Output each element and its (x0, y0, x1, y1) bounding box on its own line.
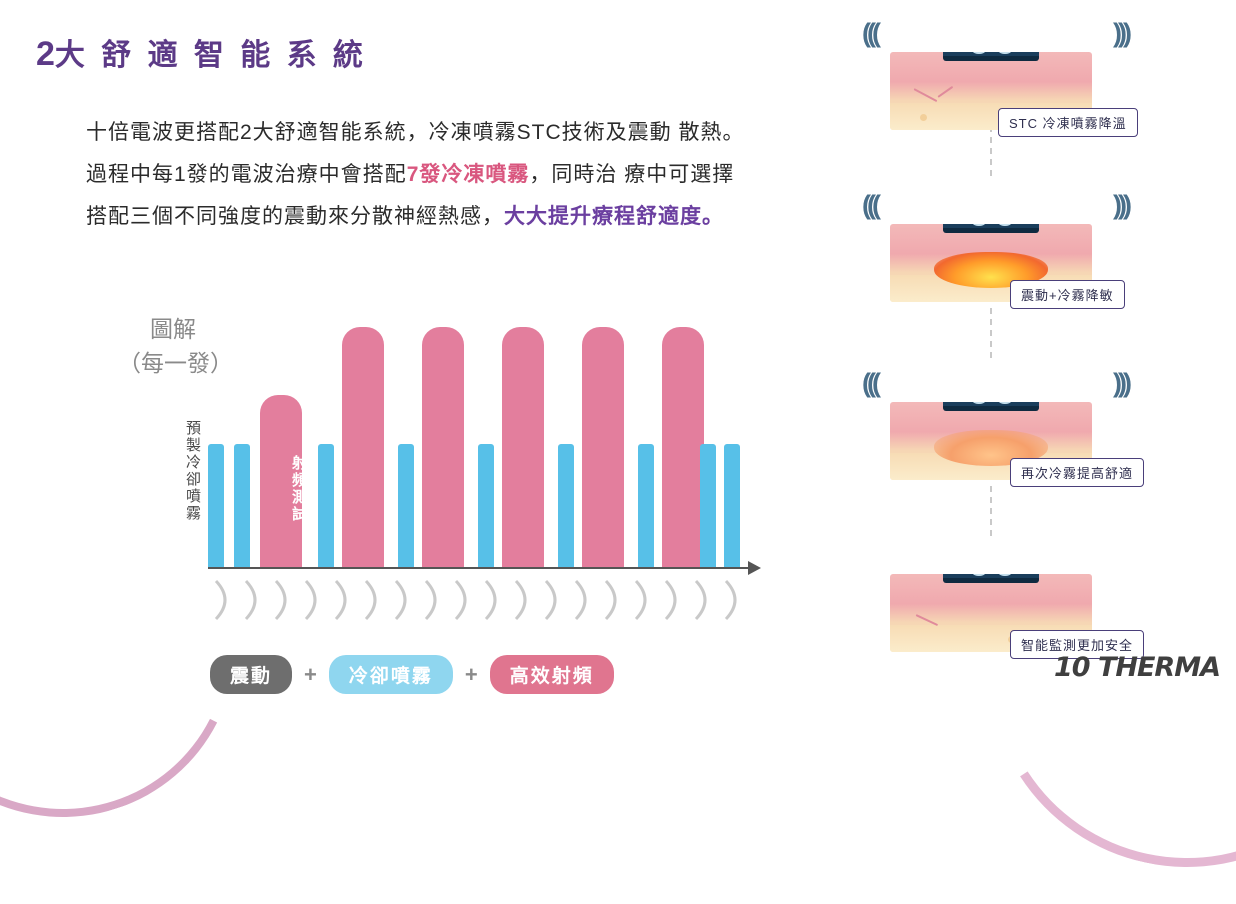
spray-nozzle-8 (995, 574, 1015, 576)
chart-bar-spray (318, 444, 334, 567)
handpiece-tip-4 (943, 574, 1039, 583)
wave-right-icon-3: ))) (1113, 368, 1128, 399)
paragraph-line-1: 十倍電波更搭配2大舒適智能系統，冷凍噴霧STC技術及震動 (86, 121, 672, 144)
description-paragraph: 十倍電波更搭配2大舒適智能系統，冷凍噴霧STC技術及震動 散熱。過程中每1發的電… (86, 112, 746, 238)
step-2: ((( ))) 震動+冷霧降敏 (890, 224, 1100, 302)
legend-item-cooling-spray: 冷卻噴霧 (329, 655, 453, 694)
vibration-wave-icon (208, 577, 754, 623)
step-connector-2 (990, 308, 994, 358)
page-title-number: 2 (36, 35, 55, 73)
chart-label-rf-test: 射頻測試 (288, 455, 309, 523)
wave-right-icon-2: ))) (1113, 190, 1128, 221)
spray-nozzle-3 (969, 224, 989, 226)
chart-bar-rf (422, 327, 464, 567)
chart-bar-rf (502, 327, 544, 567)
chart-bar-spray (558, 444, 574, 567)
treatment-cycle-chart: 圖解 （每一發） 預製冷卻噴霧 射頻測試 (96, 300, 756, 630)
handpiece-tip-2 (943, 224, 1039, 233)
wave-left-icon-3: ((( (862, 368, 877, 399)
page-title-text: 大 舒 適 智 能 系 統 (55, 39, 367, 72)
chart-bar-rf (582, 327, 624, 567)
chart-bar-spray (700, 444, 716, 567)
chart-bar-spray (234, 444, 250, 567)
chart-legend: 震動 + 冷卻噴霧 + 高效射頻 (210, 655, 614, 694)
chart-x-axis-arrow-icon (748, 561, 761, 575)
spray-nozzle-4 (995, 224, 1015, 226)
wave-right-icon-1: ))) (1113, 18, 1128, 49)
fat-cell-icon-1 (920, 114, 927, 121)
chart-bar-spray (398, 444, 414, 567)
step-1: ((( ))) STC 冷凍噴霧降溫 (890, 52, 1100, 130)
step-3: ((( ))) 再次冷霧提高舒適 (890, 402, 1100, 480)
step-2-caption: 震動+冷霧降敏 (1010, 280, 1125, 309)
chart-label-precool: 預製冷卻噴霧 (182, 420, 203, 522)
legend-separator-1: + (304, 662, 317, 688)
legend-item-rf: 高效射頻 (490, 655, 614, 694)
step-connector-1 (990, 126, 994, 176)
wave-left-icon-2: ((( (862, 190, 877, 221)
spray-nozzle-1 (969, 52, 989, 54)
vein-icon-2 (937, 86, 953, 98)
chart-bar-spray (724, 444, 740, 567)
chart-plot-area (208, 312, 728, 567)
spray-nozzle-5 (969, 402, 989, 404)
chart-bar-rf (662, 327, 704, 567)
chart-bar-spray (638, 444, 654, 567)
paragraph-highlight-purple-2: 升療程舒適度。 (570, 205, 724, 228)
brand-logo: 10 THERMA (1054, 652, 1220, 683)
page-title: 2大 舒 適 智 能 系 統 (36, 30, 367, 74)
spray-nozzle-2 (995, 52, 1015, 54)
paragraph-line-2c: ，同時治 (529, 163, 617, 186)
paragraph-highlight-pink: 7發冷凍噴霧 (407, 163, 530, 186)
chart-bar-spray (478, 444, 494, 567)
chart-x-axis (208, 567, 754, 569)
step-connector-3 (990, 486, 994, 536)
step-4: 智能監測更加安全 (890, 574, 1100, 652)
spray-nozzle-7 (969, 574, 989, 576)
legend-separator-2: + (465, 662, 478, 688)
chart-bar-spray (208, 444, 224, 567)
chart-bar-rf (342, 327, 384, 567)
vein-icon-3 (916, 614, 939, 626)
paragraph-highlight-purple-1: 大大提 (504, 205, 570, 228)
step-1-caption: STC 冷凍噴霧降溫 (998, 108, 1138, 137)
treatment-steps-column: ((( ))) STC 冷凍噴霧降溫 ((( ))) (890, 8, 1140, 648)
spray-nozzle-6 (995, 402, 1015, 404)
handpiece-tip-1 (943, 52, 1039, 61)
handpiece-tip-3 (943, 402, 1039, 411)
legend-item-vibration: 震動 (210, 655, 292, 694)
wave-left-icon-1: ((( (862, 18, 877, 49)
vein-icon-1 (914, 88, 938, 102)
step-3-caption: 再次冷霧提高舒適 (1010, 458, 1144, 487)
